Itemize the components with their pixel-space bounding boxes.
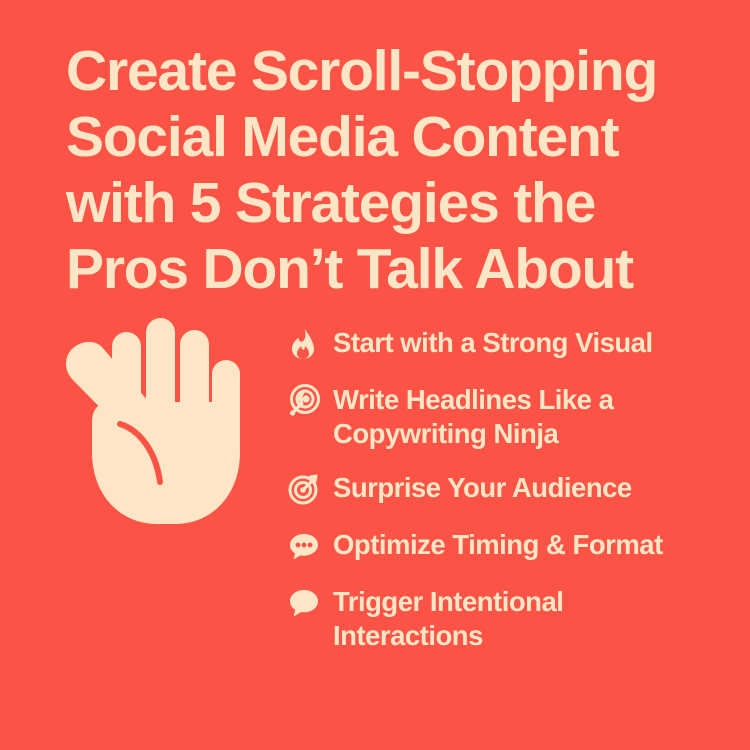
headline-line-2: Social Media Content — [66, 104, 706, 170]
list-item: Write Headlines Like a Copywriting Ninja — [288, 383, 708, 451]
speech-bubble-icon — [288, 584, 326, 622]
chat-dots-icon — [288, 527, 326, 565]
list-item: Optimize Timing & Format — [288, 528, 708, 565]
list-item: Start with a Strong Visual — [288, 326, 708, 363]
target-arrow-icon — [288, 470, 326, 508]
headline-line-4: Pros Don’t Talk About — [66, 236, 706, 302]
strategy-list: Start with a Strong Visual Write Headlin… — [288, 326, 708, 653]
pen-swirl-icon — [288, 382, 326, 420]
list-item: Trigger Intentional Interactions — [288, 585, 708, 653]
list-item-label: Trigger Intentional Interactions — [333, 585, 703, 653]
list-item-label: Surprise Your Audience — [333, 471, 632, 505]
headline-line-3: with 5 Strategies the — [66, 170, 706, 236]
flame-icon — [288, 325, 326, 363]
list-item: Surprise Your Audience — [288, 471, 708, 508]
list-item-label: Start with a Strong Visual — [333, 326, 653, 360]
list-item-label: Write Headlines Like a Copywriting Ninja — [333, 383, 703, 451]
headline-line-1: Create Scroll-Stopping — [66, 38, 706, 104]
list-item-label: Optimize Timing & Format — [333, 528, 663, 562]
poster-canvas: Create Scroll-Stopping Social Media Cont… — [0, 0, 750, 750]
raised-hand-illustration — [62, 312, 242, 532]
headline-block: Create Scroll-Stopping Social Media Cont… — [66, 38, 706, 302]
